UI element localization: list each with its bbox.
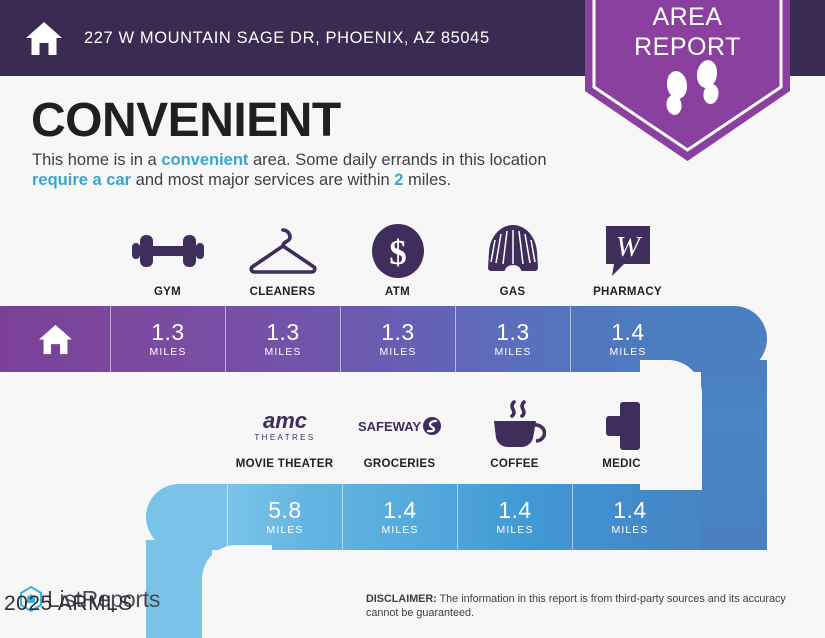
distance-value: 1.4 [611, 320, 644, 345]
distance-unit: MILES [381, 524, 418, 536]
walgreens-logo-icon: W [602, 222, 654, 280]
subtitle-part-4: miles. [403, 171, 451, 189]
amenity-label: MOVIE THEATER [236, 458, 334, 470]
distance-unit: MILES [266, 524, 303, 536]
page-title: CONVENIENT [31, 93, 341, 149]
disclaimer: DISCLAIMER: The information in this repo… [366, 592, 791, 620]
bar-connector-right [701, 360, 767, 550]
distance-value: 1.4 [498, 498, 531, 523]
distance-bar-row-2: 5.8 MILES 1.4 MILES 1.4 MILES 1.4 MILES [146, 484, 767, 550]
distance-unit: MILES [611, 524, 648, 536]
distance-unit: MILES [609, 346, 646, 358]
amc-theatres-logo-icon: amc THEATRES [243, 400, 327, 452]
amenity-label: GAS [500, 286, 526, 298]
distance-segment: 1.3 MILES [455, 306, 570, 372]
svg-text:amc: amc [262, 408, 306, 433]
amenity-movie-theater: amc THEATRES MOVIE THEATER [227, 400, 342, 470]
coffee-cup-icon [484, 400, 546, 452]
subtitle-highlight-require-car: require a car [32, 171, 131, 189]
distance-value: 1.4 [383, 498, 416, 523]
amenity-coffee: COFFEE [457, 400, 572, 470]
subtitle-part-3: and most major services are within [131, 171, 394, 189]
distance-segment: 1.3 MILES [225, 306, 340, 372]
amenity-pharmacy: W PHARMACY [570, 222, 685, 298]
svg-text:SAFEWAY: SAFEWAY [358, 419, 421, 434]
distance-unit: MILES [379, 346, 416, 358]
badge-label: AREA REPORT [585, 2, 790, 62]
amenity-atm: $ ATM [340, 222, 455, 298]
amenity-label: ATM [385, 286, 410, 298]
distance-value: 1.4 [613, 498, 646, 523]
amenity-gas: GAS [455, 222, 570, 298]
subtitle-part-1: This home is in a [32, 151, 161, 169]
amenity-icon-row-1: GYM CLEANERS $ ATM [110, 222, 685, 298]
amenity-label: GROCERIES [364, 458, 436, 470]
badge-line-1: AREA [585, 2, 790, 32]
amenity-label: GYM [154, 286, 181, 298]
mls-watermark: 2025 ARMLS [4, 592, 133, 616]
amenity-label: COFFEE [490, 458, 538, 470]
subtitle-part-2: area. Some daily errands in this locatio… [248, 151, 546, 169]
amenity-label: CLEANERS [250, 286, 316, 298]
page-subtitle: This home is in a convenient area. Some … [32, 150, 577, 190]
distance-value: 1.3 [381, 320, 414, 345]
distance-segment: 1.4 MILES [457, 484, 572, 550]
amenity-icon-row-2: amc THEATRES MOVIE THEATER SAFEWAY GROCE… [227, 400, 687, 470]
distance-value: 1.3 [151, 320, 184, 345]
distance-value: 5.8 [268, 498, 301, 523]
svg-text:W: W [615, 231, 642, 263]
area-report-badge: AREA REPORT [585, 0, 790, 161]
hanger-icon [246, 222, 320, 280]
bar-home-marker [0, 306, 110, 372]
distance-value: 1.3 [496, 320, 529, 345]
property-address: 227 W MOUNTAIN SAGE DR, PHOENIX, AZ 8504… [84, 29, 490, 48]
distance-segment: 1.4 MILES [572, 484, 687, 550]
distance-unit: MILES [496, 524, 533, 536]
bar-notch-right [640, 360, 702, 490]
distance-segment: 1.3 MILES [340, 306, 455, 372]
shell-logo-icon [484, 222, 542, 280]
subtitle-highlight-convenient: convenient [161, 151, 248, 169]
badge-line-2: REPORT [585, 32, 790, 62]
svg-text:$: $ [389, 233, 407, 272]
distance-segment: 5.8 MILES [227, 484, 342, 550]
disclaimer-label: DISCLAIMER: [366, 593, 437, 605]
distance-unit: MILES [264, 346, 301, 358]
bar-notch-left [202, 545, 272, 638]
amenity-label: PHARMACY [593, 286, 662, 298]
distance-segment: 1.3 MILES [110, 306, 225, 372]
amenity-groceries: SAFEWAY GROCERIES [342, 400, 457, 470]
distance-unit: MILES [149, 346, 186, 358]
amenity-cleaners: CLEANERS [225, 222, 340, 298]
svg-text:THEATRES: THEATRES [254, 433, 315, 442]
distance-segment: 1.4 MILES [342, 484, 457, 550]
amenity-gym: GYM [110, 222, 225, 298]
dollar-circle-icon: $ [370, 222, 426, 280]
home-icon [24, 18, 64, 58]
dumbbell-icon [130, 222, 206, 280]
distance-value: 1.3 [266, 320, 299, 345]
safeway-logo-icon: SAFEWAY [356, 400, 444, 452]
distance-unit: MILES [494, 346, 531, 358]
